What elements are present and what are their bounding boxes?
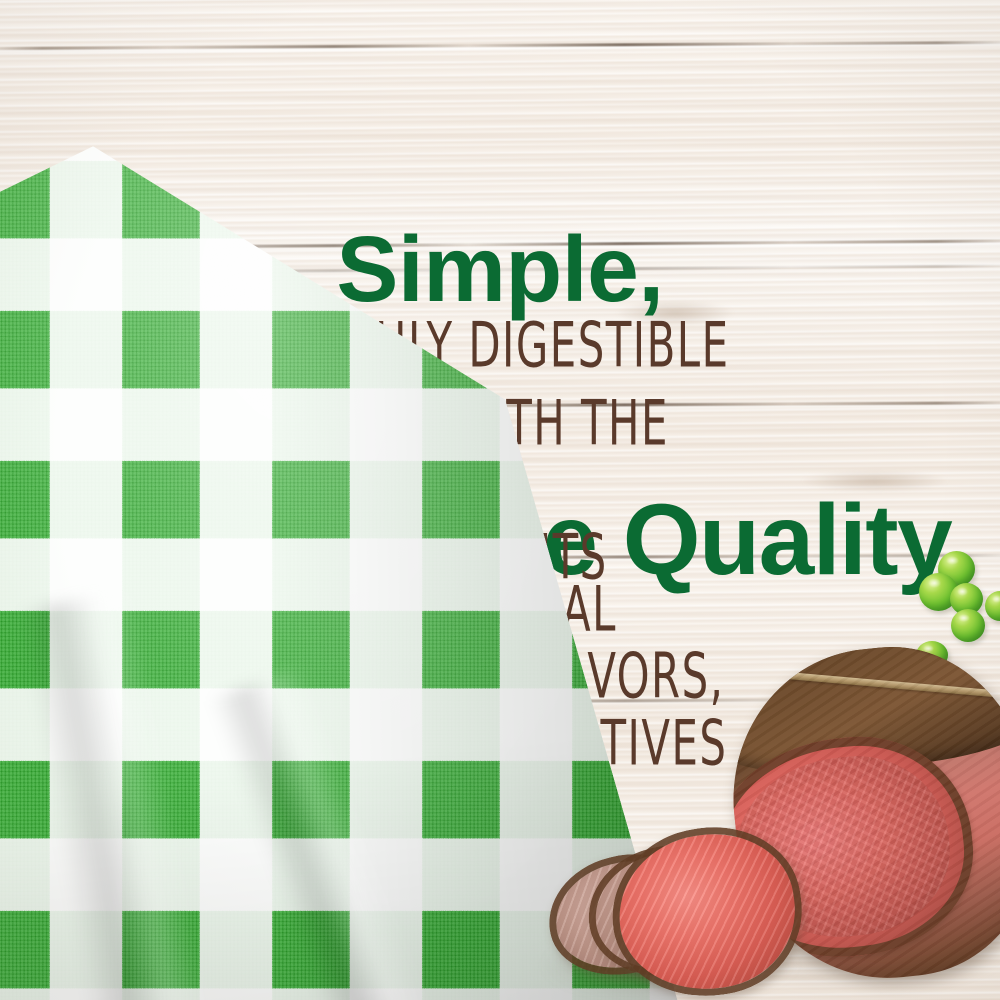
product-feature-panel: Simple, Wholesome Quality Highly Digesti… <box>0 0 1000 1000</box>
